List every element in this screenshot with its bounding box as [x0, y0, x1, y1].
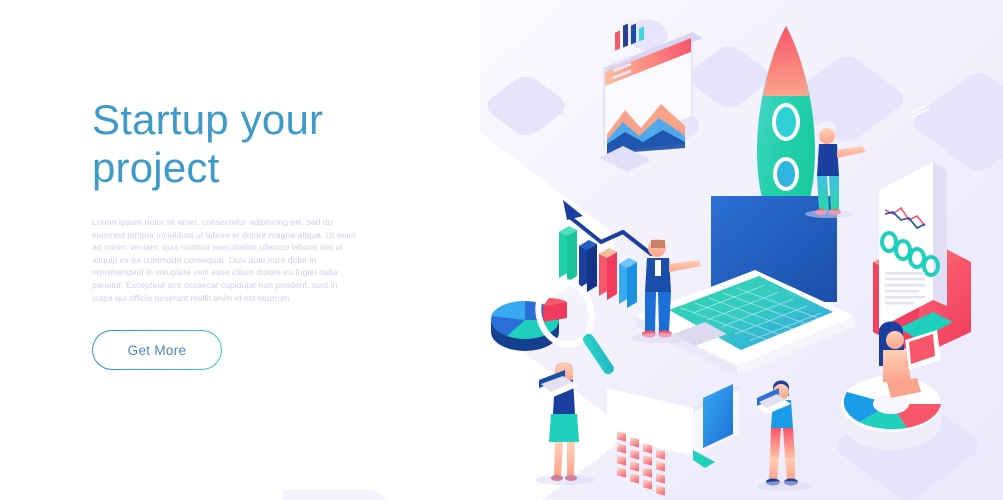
- hero-banner: Startup your project Lorem ipsum dolor s…: [0, 0, 1003, 500]
- background-rhombus: [359, 213, 459, 288]
- person-pointing-white-hair: [815, 121, 865, 215]
- background-rhombus: [306, 327, 441, 429]
- isometric-illustration: [455, 10, 1003, 500]
- calendar-stand: [693, 450, 715, 468]
- pie-exploded-slice: [543, 298, 567, 322]
- hero-description: Lorem ipsum dolor sit amet, consectetur …: [92, 216, 360, 304]
- page-title: Startup your project: [92, 96, 360, 192]
- report-panel: [873, 105, 971, 356]
- rocket-nose-cone: [763, 26, 809, 96]
- desk-calendar: [607, 384, 739, 495]
- person-boy-laptop: [755, 381, 798, 486]
- dashboard-window: [599, 24, 703, 172]
- bar-chart-arrow: [559, 200, 651, 308]
- person-woman-laptop: [537, 363, 579, 482]
- get-more-label: Get More: [128, 343, 187, 358]
- report-cta-label: [911, 105, 929, 119]
- dashboard-bar-chart: [615, 24, 644, 51]
- hero-copy: Startup your project Lorem ipsum dolor s…: [92, 96, 360, 304]
- get-more-button[interactable]: Get More: [92, 330, 222, 370]
